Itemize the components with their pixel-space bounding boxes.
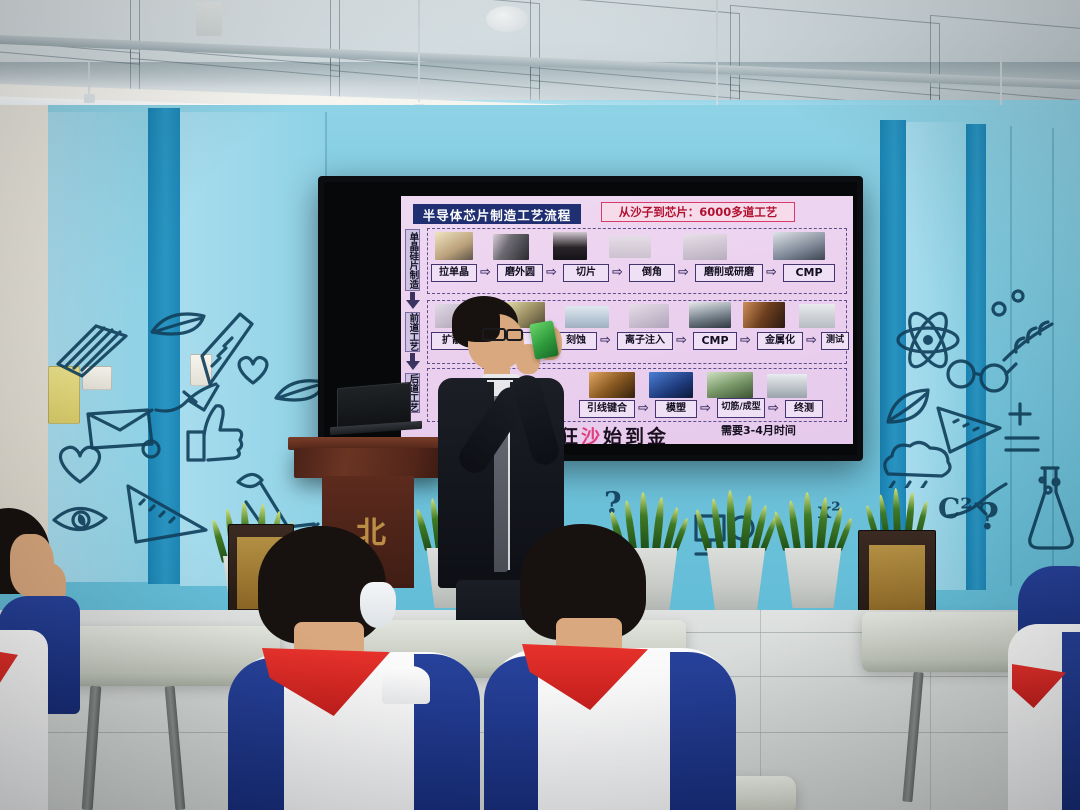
step-row1-2: 磨外圆 — [497, 264, 543, 282]
flask-doodle — [1022, 462, 1078, 552]
math-plus-doodle — [1000, 400, 1046, 462]
step-row3-3: 切筋/成型 — [717, 398, 765, 418]
wall-left-column — [0, 105, 48, 575]
presenter-glasses-right — [506, 329, 523, 341]
thumbs-up-doodle — [178, 398, 248, 468]
branch-doodle — [998, 316, 1058, 370]
step-row1-5: 磨削或研磨 — [695, 264, 763, 282]
student-center-mask — [360, 582, 396, 628]
student-right — [478, 524, 740, 810]
snake-plant-5 — [778, 492, 850, 550]
presenter-glasses — [482, 328, 506, 341]
circle-doodle-right — [990, 300, 1008, 318]
heart-doodle — [52, 440, 108, 488]
podium — [294, 448, 442, 478]
circle-doodle-left — [140, 438, 162, 460]
classroom-scene: C² ? x² ? 半导体芯片制造工艺流程 从沙子到芯片：6000多道工艺 单晶… — [0, 0, 1080, 810]
student-right-shoulder-right — [670, 652, 736, 810]
calligraphy-after: 始到金 — [603, 426, 669, 444]
slide-banner: 从沙子到芯片：6000多道工艺 — [601, 202, 795, 222]
sidebar-stage-2: 前道工艺 — [405, 312, 420, 352]
step-row2-4: 离子注入 — [617, 332, 673, 350]
ceiling-vent — [196, 2, 222, 36]
slide-title: 半导体芯片制造工艺流程 — [413, 204, 581, 224]
step-row1-6: CMP — [783, 264, 835, 282]
c-squared-label: C² — [938, 492, 973, 525]
step-row2-5: CMP — [693, 332, 737, 350]
student-left — [0, 508, 150, 810]
step-row1-4: 倒角 — [629, 264, 675, 282]
step-row2-6: 金属化 — [757, 332, 803, 350]
step-row3-2: 模塑 — [655, 400, 697, 418]
sidebar-stage-1: 单晶硅片制造 — [405, 229, 420, 291]
step-row2-7: 测试 — [821, 332, 849, 350]
slide-footer-note: 需要3-4月时间 — [721, 422, 796, 438]
step-row1-3: 切片 — [563, 264, 609, 282]
student-right-shoulder-left — [484, 656, 538, 810]
circle-doodle-right-2 — [1010, 288, 1026, 304]
ceiling-speaker — [486, 6, 528, 32]
heart-doodle-2 — [232, 350, 274, 388]
question-mark-doodle: ? — [978, 496, 999, 538]
student-center — [232, 526, 482, 810]
step-row1-1: 拉单晶 — [431, 264, 477, 282]
student-far-right — [1008, 566, 1080, 810]
step-row3-4: 终测 — [785, 400, 823, 418]
book-doodle — [52, 318, 144, 382]
